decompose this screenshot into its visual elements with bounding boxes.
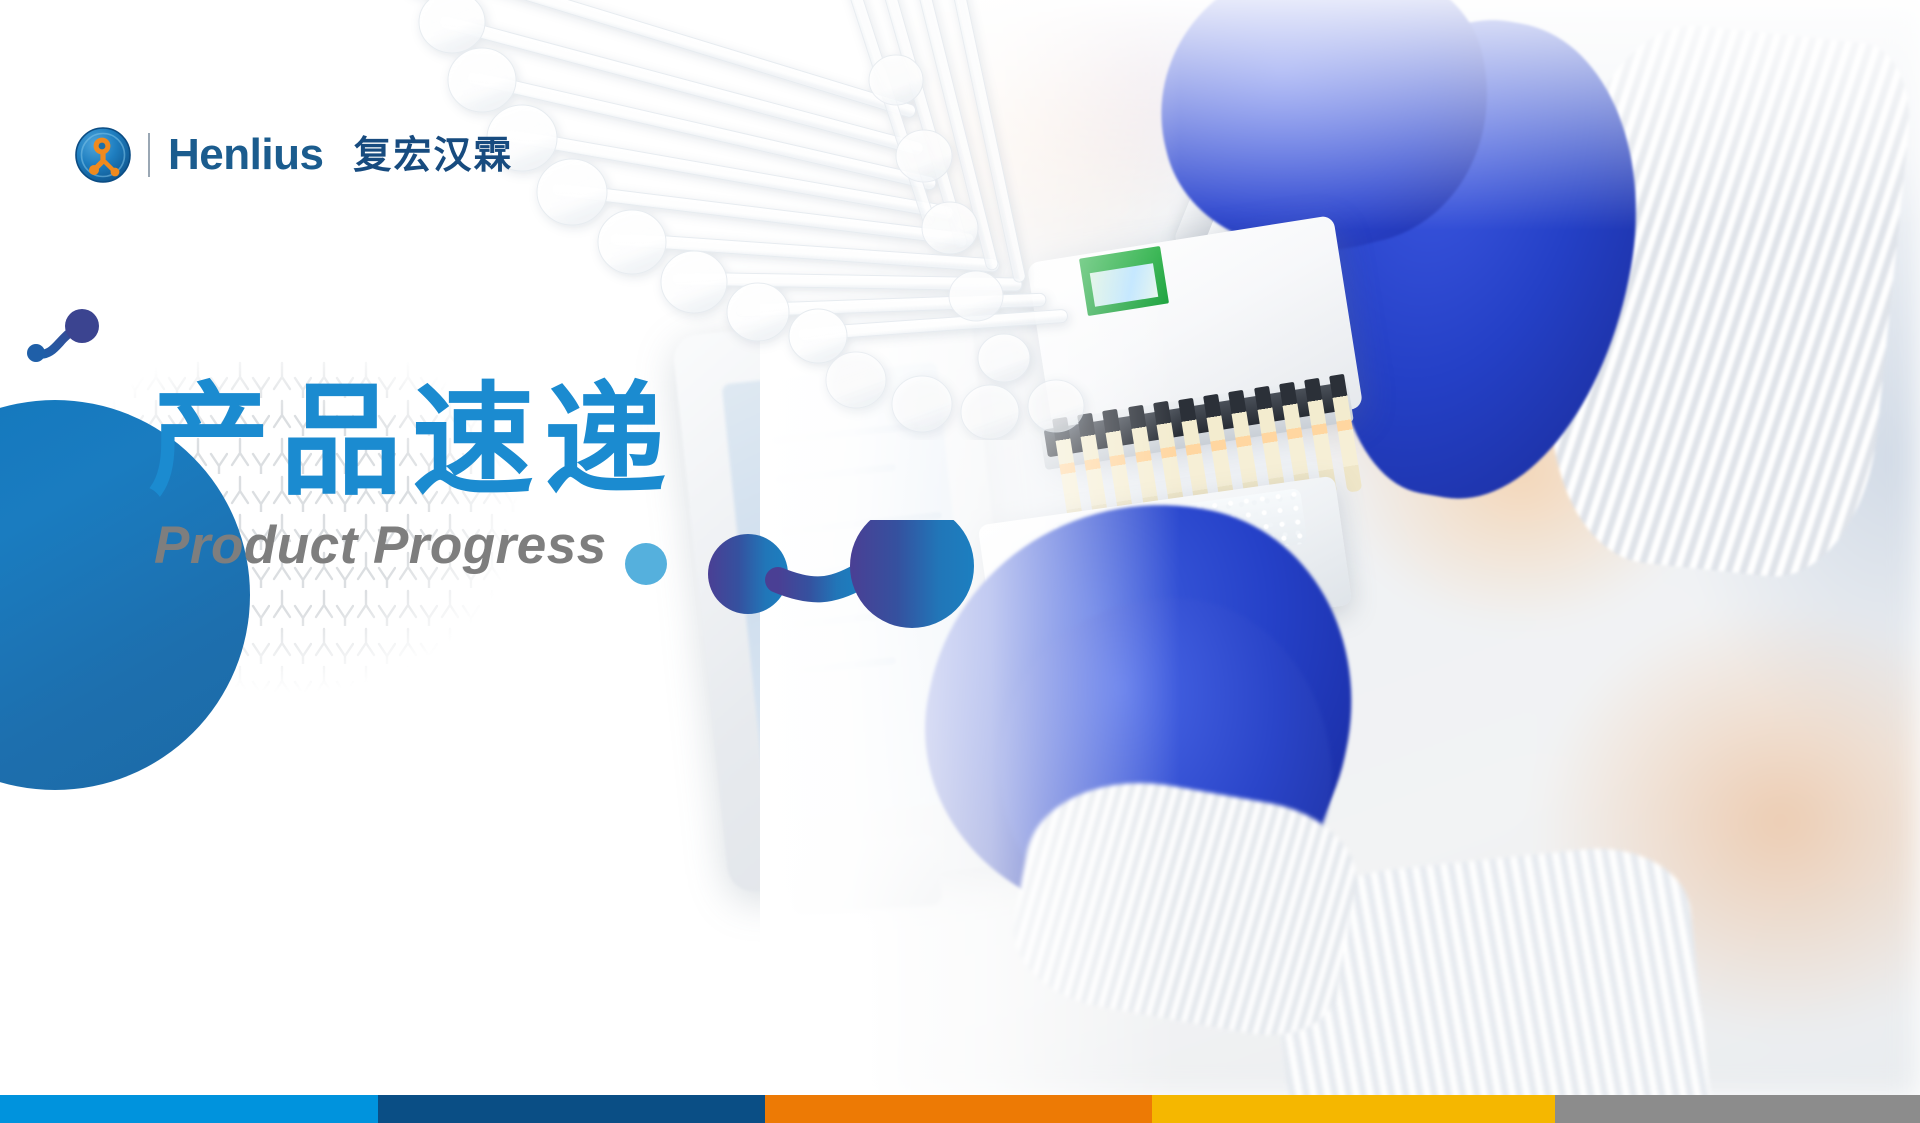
segment-gray bbox=[1555, 1095, 1920, 1123]
segment-light-blue bbox=[0, 1095, 378, 1123]
bottom-color-bar bbox=[0, 1095, 1920, 1123]
henlius-molecule-logomark-icon bbox=[74, 126, 132, 184]
logo-name-en: Henlius bbox=[168, 133, 323, 177]
henlius-logo[interactable]: Henlius 复宏汉霖 bbox=[74, 124, 513, 186]
segment-orange bbox=[765, 1095, 1152, 1123]
logo-divider bbox=[148, 133, 150, 177]
page-title: 产品速递 bbox=[148, 378, 676, 505]
logo-name-cn: 复宏汉霖 bbox=[353, 136, 513, 174]
molecule-decoration-small bbox=[22, 306, 102, 378]
segment-navy bbox=[378, 1095, 765, 1123]
segment-amber bbox=[1152, 1095, 1555, 1123]
molecule-decoration-large bbox=[700, 520, 1000, 630]
page-subtitle: Product Progress bbox=[154, 517, 676, 575]
title-block: 产品速递 Product Progress bbox=[148, 378, 676, 575]
title-slide: Henlius 复宏汉霖 产品速递 Product Progress bbox=[0, 0, 1920, 1123]
